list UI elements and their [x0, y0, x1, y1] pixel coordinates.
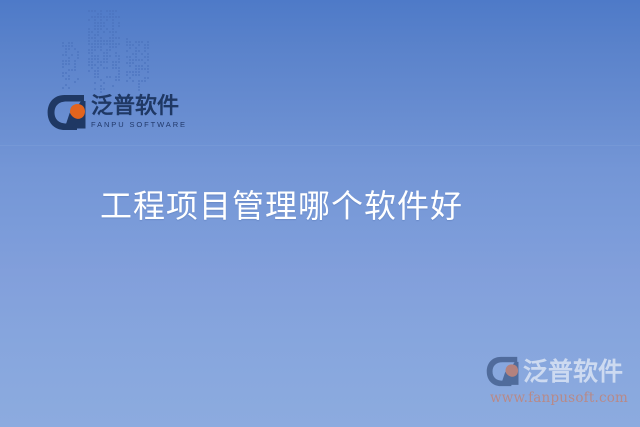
brand-name-cn: 泛普软件: [91, 96, 187, 118]
brand-logo-text: 泛普软件 FANPU SOFTWARE: [91, 96, 187, 129]
slide-canvas: 泛普软件 FANPU SOFTWARE 工程项目管理哪个软件好 泛普软件 www…: [0, 0, 640, 427]
watermark-url: www.fanpusoft.com: [486, 390, 632, 406]
fanpu-swoosh-icon: [47, 94, 87, 131]
pixel-skyline-graphic: [55, 2, 185, 94]
brand-name-en: FANPU SOFTWARE: [91, 121, 187, 129]
watermark: 泛普软件 www.fanpusoft.com: [486, 353, 632, 409]
brand-logo: 泛普软件 FANPU SOFTWARE: [47, 90, 177, 135]
page-title: 工程项目管理哪个软件好: [100, 186, 463, 226]
watermark-brand-name: 泛普软件: [523, 359, 623, 384]
watermark-logo-row: 泛普软件: [486, 353, 632, 389]
fanpu-swoosh-icon: [486, 356, 520, 387]
background-band-seam: [0, 145, 640, 146]
